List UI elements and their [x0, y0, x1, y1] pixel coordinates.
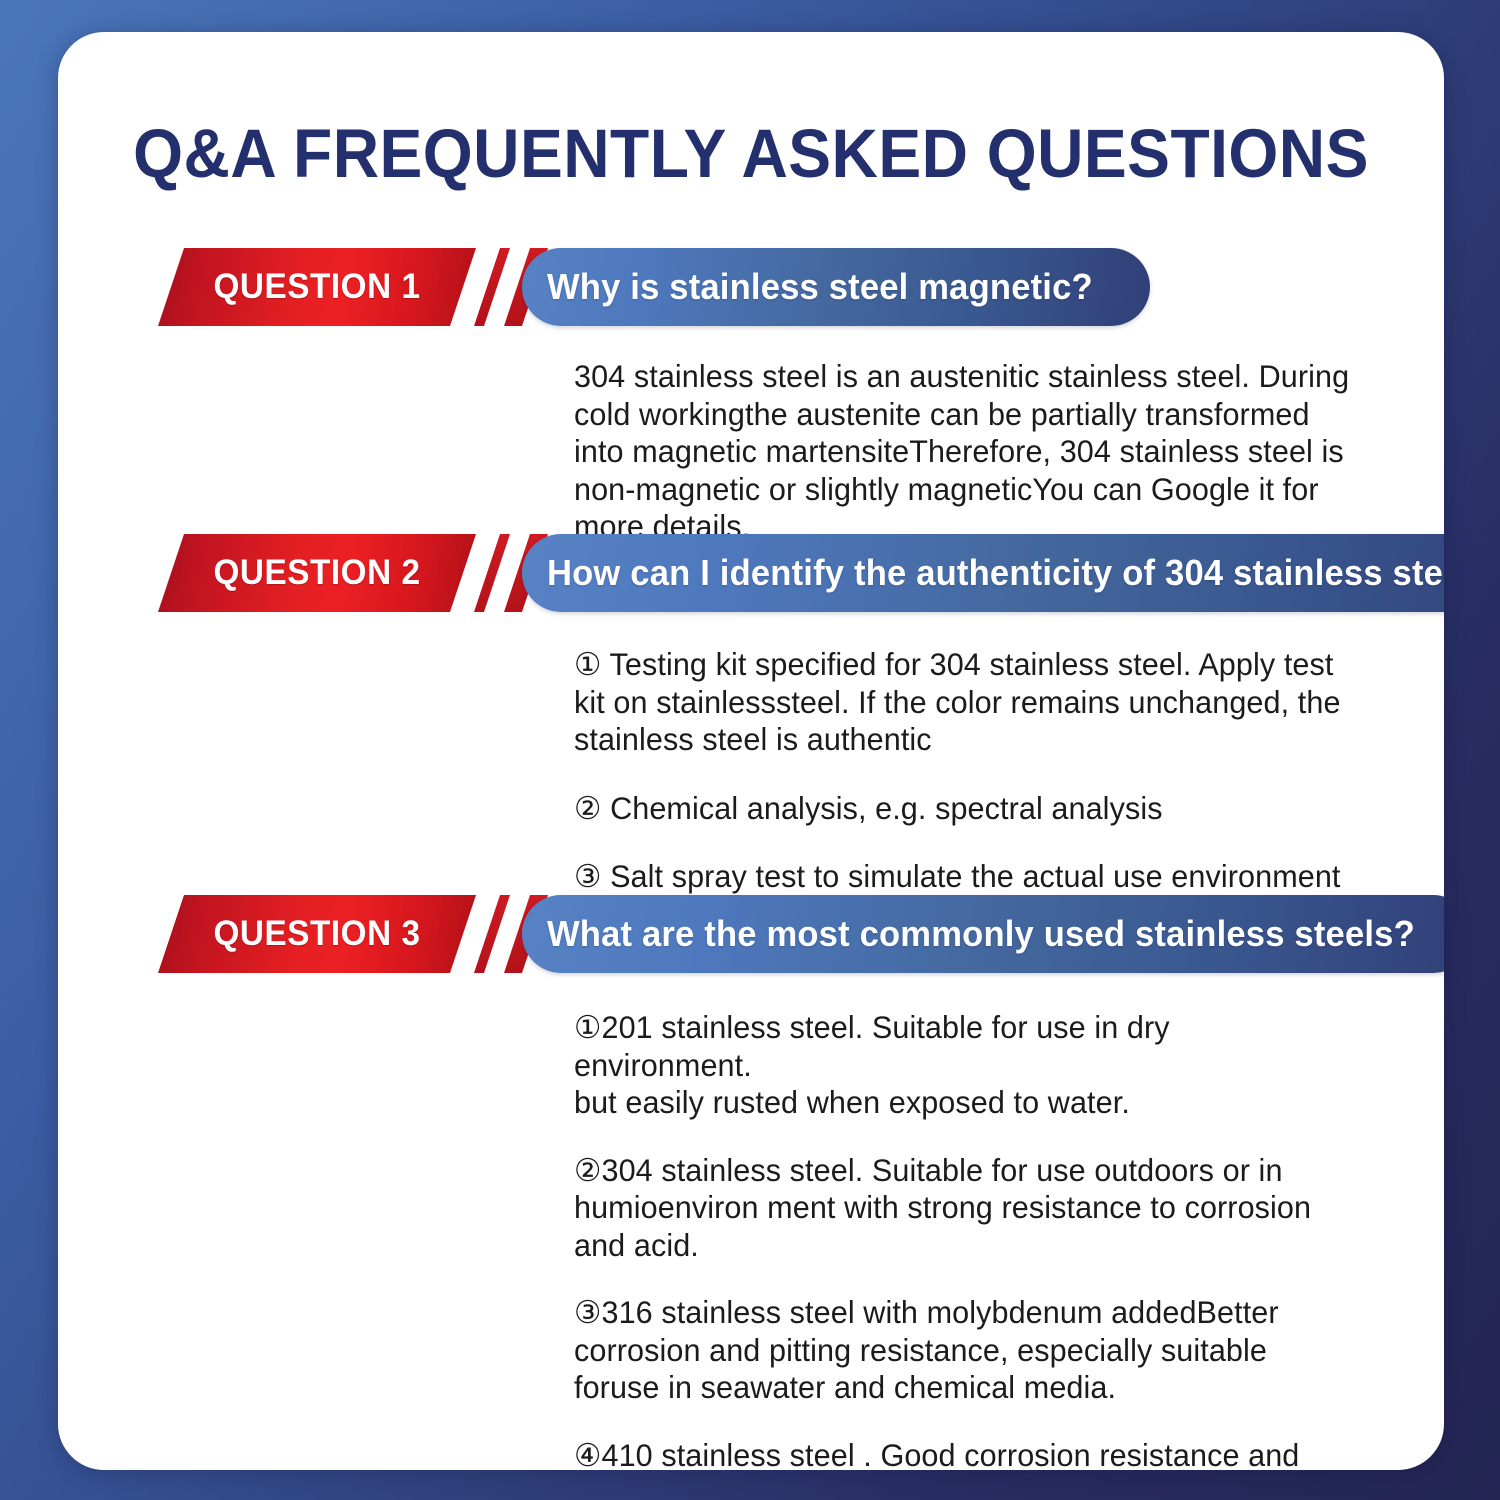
question-badge-2[interactable]: QUESTION 2	[158, 534, 476, 612]
slash-thin-icon-3	[474, 895, 510, 973]
question-block-2: QUESTION 2 How can I identify the authen…	[58, 534, 1444, 612]
question-answer-1: 304 stainless steel is an austenitic sta…	[574, 358, 1374, 546]
answer-paragraph: ②304 stainless steel. Suitable for use o…	[574, 1152, 1350, 1265]
answer-paragraph: ③316 stainless steel with molybdenum add…	[574, 1294, 1350, 1407]
question-title-pill-3[interactable]: What are the most commonly used stainles…	[522, 895, 1444, 973]
question-header-3: QUESTION 3 What are the most commonly us…	[58, 895, 1444, 973]
answer-paragraph: ① Testing kit specified for 304 stainles…	[574, 646, 1350, 759]
question-header-1: QUESTION 1 Why is stainless steel magnet…	[58, 248, 1444, 326]
question-badge-3[interactable]: QUESTION 3	[158, 895, 476, 973]
question-title-3: What are the most commonly used stainles…	[522, 913, 1442, 955]
question-header-2: QUESTION 2 How can I identify the authen…	[58, 534, 1444, 612]
question-title-1: Why is stainless steel magnetic?	[522, 266, 1120, 308]
slash-thin-icon-1	[474, 248, 510, 326]
answer-paragraph: ①201 stainless steel. Suitable for use i…	[574, 1009, 1350, 1122]
answer-paragraph: 304 stainless steel is an austenitic sta…	[574, 358, 1350, 546]
slash-thin-icon-2	[474, 534, 510, 612]
question-block-3: QUESTION 3 What are the most commonly us…	[58, 895, 1444, 973]
answer-paragraph: ③ Salt spray test to simulate the actual…	[574, 858, 1350, 896]
page-title: Q&A FREQUENTLY ASKED QUESTIONS	[107, 114, 1396, 193]
question-answer-3: ①201 stainless steel. Suitable for use i…	[574, 1009, 1374, 1470]
question-badge-label-2: QUESTION 2	[213, 553, 420, 593]
answer-paragraph: ④410 stainless steel . Good corrosion re…	[574, 1437, 1350, 1471]
question-badge-label-3: QUESTION 3	[213, 914, 420, 954]
question-answer-2: ① Testing kit specified for 304 stainles…	[574, 646, 1374, 896]
question-badge-label-1: QUESTION 1	[213, 267, 420, 307]
question-title-2: How can I identify the authenticity of 3…	[522, 552, 1444, 594]
faq-card: Q&A FREQUENTLY ASKED QUESTIONS QUESTION …	[58, 32, 1444, 1470]
question-badge-1[interactable]: QUESTION 1	[158, 248, 476, 326]
answer-paragraph: ② Chemical analysis, e.g. spectral analy…	[574, 790, 1350, 828]
question-block-1: QUESTION 1 Why is stainless steel magnet…	[58, 248, 1444, 326]
question-title-pill-1[interactable]: Why is stainless steel magnetic?	[522, 248, 1150, 326]
question-title-pill-2[interactable]: How can I identify the authenticity of 3…	[522, 534, 1444, 612]
